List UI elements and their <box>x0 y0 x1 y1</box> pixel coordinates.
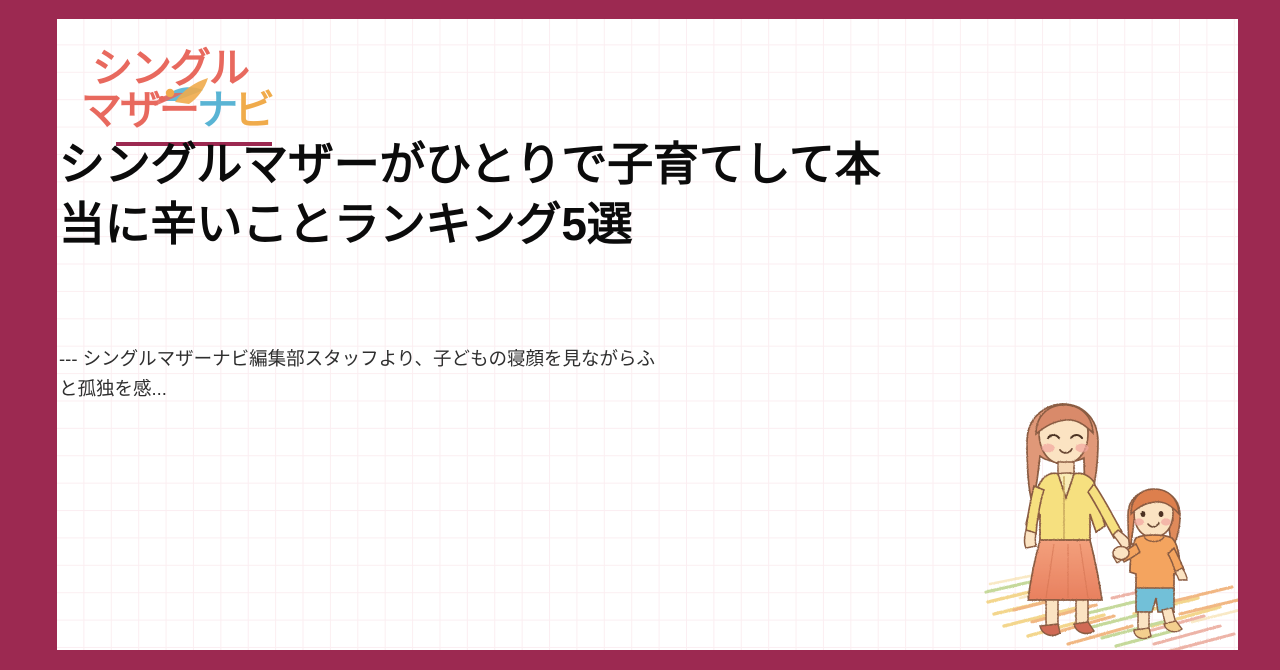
site-logo[interactable]: シングル マザー ナ ビ <box>79 38 309 130</box>
page-title: シングルマザーがひとりで子育てして本当に辛いことランキング5選 <box>59 135 889 255</box>
svg-text:シングル: シングル <box>92 45 249 91</box>
svg-text:ナ: ナ <box>197 87 236 130</box>
mother-and-child-illustration <box>984 402 1238 650</box>
site-logo-mark: シングル マザー ナ ビ <box>79 38 285 130</box>
article-excerpt: --- シングルマザーナビ編集部スタッフより、子どもの寝顔を見ながらふと孤独を感… <box>59 344 659 404</box>
article-canvas: シングル マザー ナ ビ <box>57 19 1238 650</box>
svg-text:ビ: ビ <box>234 87 273 130</box>
article-card-frame: シングル マザー ナ ビ <box>0 0 1280 670</box>
